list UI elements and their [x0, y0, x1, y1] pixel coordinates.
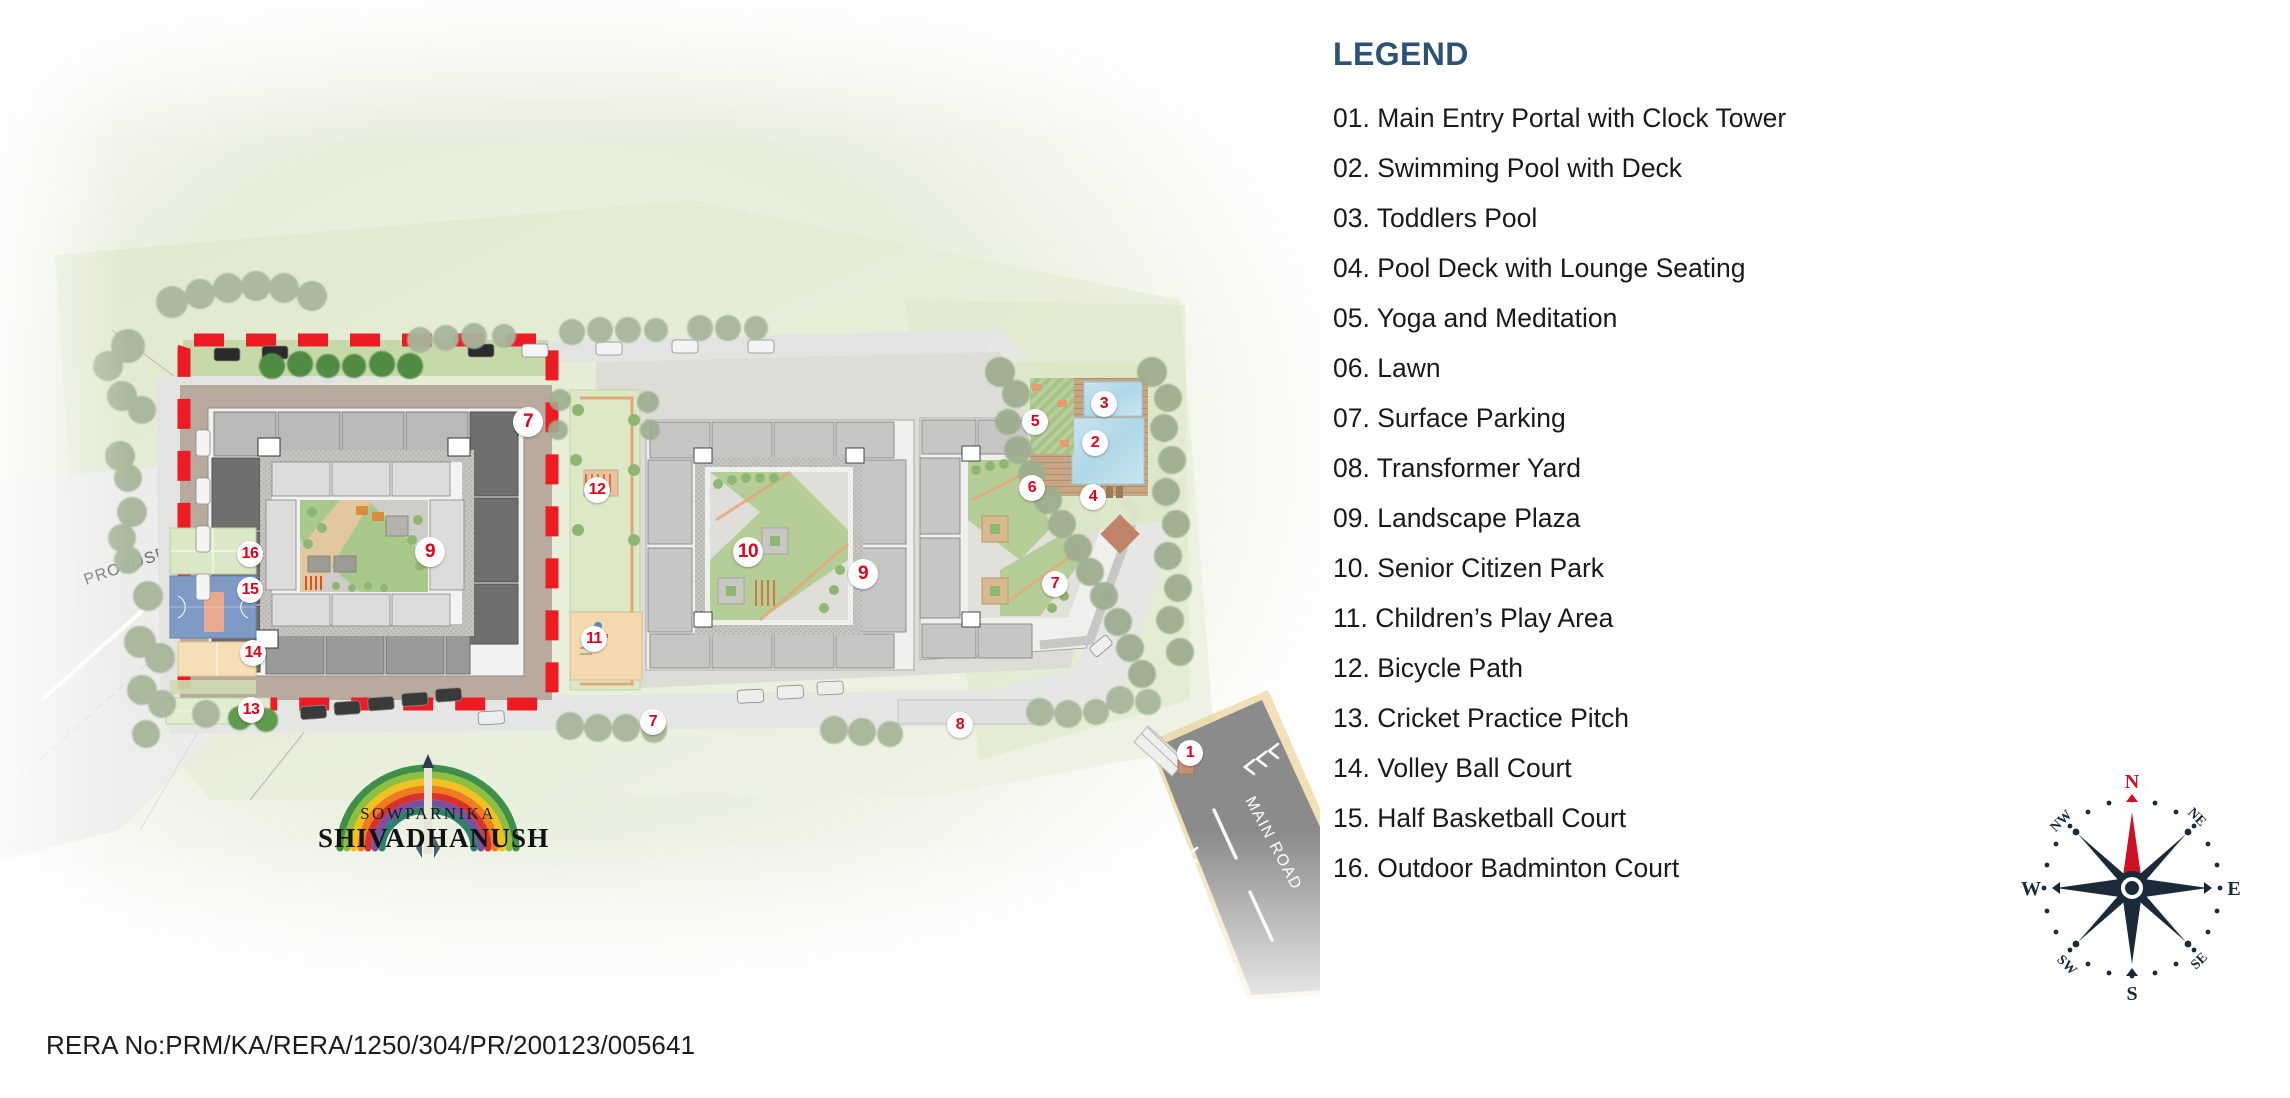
site-plan-map[interactable]: PROPOSED FUTURE ROAD MAIN ROAD: [0, 0, 1320, 1000]
marker-13[interactable]: 13: [238, 697, 264, 723]
site-plan-page: PROPOSED FUTURE ROAD MAIN ROAD: [0, 0, 2290, 1098]
compass-label-s: S: [2126, 983, 2137, 1005]
legend-item-number: 16.: [1333, 853, 1370, 883]
rera-number: RERA No:PRM/KA/RERA/1250/304/PR/200123/0…: [46, 1030, 695, 1061]
marker-7-top[interactable]: 7: [513, 407, 543, 437]
legend-item-label: Transformer Yard: [1377, 453, 1581, 483]
marker-9-phase[interactable]: 9: [415, 537, 445, 567]
bicycle-path-strip: [570, 390, 642, 690]
marker-12[interactable]: 12: [584, 477, 610, 503]
legend-panel: LEGEND 01. Main Entry Portal with Clock …: [1333, 36, 2053, 893]
legend-item-9: 09. Landscape Plaza: [1333, 493, 2053, 543]
legend-item-label: Cricket Practice Pitch: [1377, 703, 1629, 733]
compass-star: [2056, 812, 2208, 964]
marker-16[interactable]: 16: [237, 541, 263, 567]
legend-item-label: Half Basketball Court: [1377, 803, 1626, 833]
legend-title: LEGEND: [1333, 36, 2053, 73]
legend-item-10: 10. Senior Citizen Park: [1333, 543, 2053, 593]
legend-item-number: 03.: [1333, 203, 1370, 233]
compass-label-e: E: [2227, 878, 2240, 900]
marker-3[interactable]: 3: [1091, 391, 1117, 417]
legend-item-number: 09.: [1333, 503, 1370, 533]
legend-item-number: 08.: [1333, 453, 1370, 483]
legend-item-label: Volley Ball Court: [1377, 753, 1571, 783]
legend-item-number: 14.: [1333, 753, 1370, 783]
project-logo: SOWPARNIKA SHIVADHANUSH: [318, 752, 538, 864]
legend-item-label: Surface Parking: [1377, 403, 1566, 433]
compass-label-w: W: [2021, 878, 2041, 900]
compass-label-nw: NW: [2048, 808, 2076, 836]
marker-7-bottom[interactable]: 7: [640, 709, 666, 735]
legend-item-3: 03. Toddlers Pool: [1333, 193, 2053, 243]
marker-9-right[interactable]: 9: [848, 559, 878, 589]
marker-15[interactable]: 15: [237, 577, 263, 603]
legend-item-label: Yoga and Meditation: [1377, 303, 1618, 333]
compass-label-sw: SW: [2053, 953, 2079, 979]
logo-line-2: SHIVADHANUSH: [318, 823, 538, 854]
children-play-area: [570, 612, 642, 680]
legend-item-number: 10.: [1333, 553, 1370, 583]
marker-4[interactable]: 4: [1080, 484, 1106, 510]
compass-rose: N S E W NE SE SW NW: [2012, 768, 2252, 1008]
legend-item-number: 11.: [1333, 603, 1368, 633]
logo-line-1: SOWPARNIKA: [318, 804, 538, 824]
legend-item-11: 11. Children’s Play Area: [1333, 593, 2053, 643]
legend-item-2: 02. Swimming Pool with Deck: [1333, 143, 2053, 193]
senior-citizen-park: [710, 472, 848, 620]
legend-item-label: Pool Deck with Lounge Seating: [1377, 253, 1745, 283]
legend-item-label: Toddlers Pool: [1377, 203, 1538, 233]
marker-14[interactable]: 14: [240, 640, 266, 666]
swimming-pool: [1072, 418, 1144, 484]
legend-item-14: 14. Volley Ball Court: [1333, 743, 2053, 793]
compass-label-n: N: [2125, 771, 2140, 793]
legend-item-number: 13.: [1333, 703, 1370, 733]
legend-item-4: 04. Pool Deck with Lounge Seating: [1333, 243, 2053, 293]
legend-item-number: 04.: [1333, 253, 1370, 283]
legend-item-7: 07. Surface Parking: [1333, 393, 2053, 443]
legend-item-number: 07.: [1333, 403, 1370, 433]
legend-list: 01. Main Entry Portal with Clock Tower02…: [1333, 93, 2053, 893]
legend-item-label: Landscape Plaza: [1377, 503, 1580, 533]
courtyard-landscape: [300, 500, 428, 592]
central-block: [646, 420, 914, 670]
marker-5[interactable]: 5: [1022, 409, 1048, 435]
legend-item-number: 06.: [1333, 353, 1370, 383]
legend-item-number: 15.: [1333, 803, 1370, 833]
marker-11[interactable]: 11: [581, 626, 607, 652]
compass-label-ne: NE: [2184, 805, 2208, 829]
marker-6[interactable]: 6: [1019, 475, 1045, 501]
legend-item-label: Senior Citizen Park: [1377, 553, 1604, 583]
compass-north-tip: [2126, 794, 2138, 802]
legend-item-label: Lawn: [1377, 353, 1440, 383]
legend-item-8: 08. Transformer Yard: [1333, 443, 2053, 493]
legend-item-5: 05. Yoga and Meditation: [1333, 293, 2053, 343]
legend-item-15: 15. Half Basketball Court: [1333, 793, 2053, 843]
legend-item-label: Outdoor Badminton Court: [1377, 853, 1679, 883]
legend-item-1: 01. Main Entry Portal with Clock Tower: [1333, 93, 2053, 143]
compass-label-se: SE: [2188, 950, 2211, 973]
marker-10[interactable]: 10: [733, 537, 763, 567]
marker-2[interactable]: 2: [1082, 430, 1108, 456]
legend-item-number: 01.: [1333, 103, 1370, 133]
legend-item-13: 13. Cricket Practice Pitch: [1333, 693, 2053, 743]
legend-item-label: Children’s Play Area: [1375, 603, 1613, 633]
legend-item-label: Bicycle Path: [1377, 653, 1523, 683]
legend-item-12: 12. Bicycle Path: [1333, 643, 2053, 693]
marker-8[interactable]: 8: [947, 712, 973, 738]
legend-item-6: 06. Lawn: [1333, 343, 2053, 393]
marker-1[interactable]: 1: [1177, 740, 1203, 766]
legend-item-16: 16. Outdoor Badminton Court: [1333, 843, 2053, 893]
marker-7-right[interactable]: 7: [1042, 571, 1068, 597]
legend-item-number: 05.: [1333, 303, 1370, 333]
legend-item-number: 02.: [1333, 153, 1370, 183]
legend-item-number: 12.: [1333, 653, 1370, 683]
legend-item-label: Swimming Pool with Deck: [1377, 153, 1682, 183]
legend-item-label: Main Entry Portal with Clock Tower: [1377, 103, 1786, 133]
